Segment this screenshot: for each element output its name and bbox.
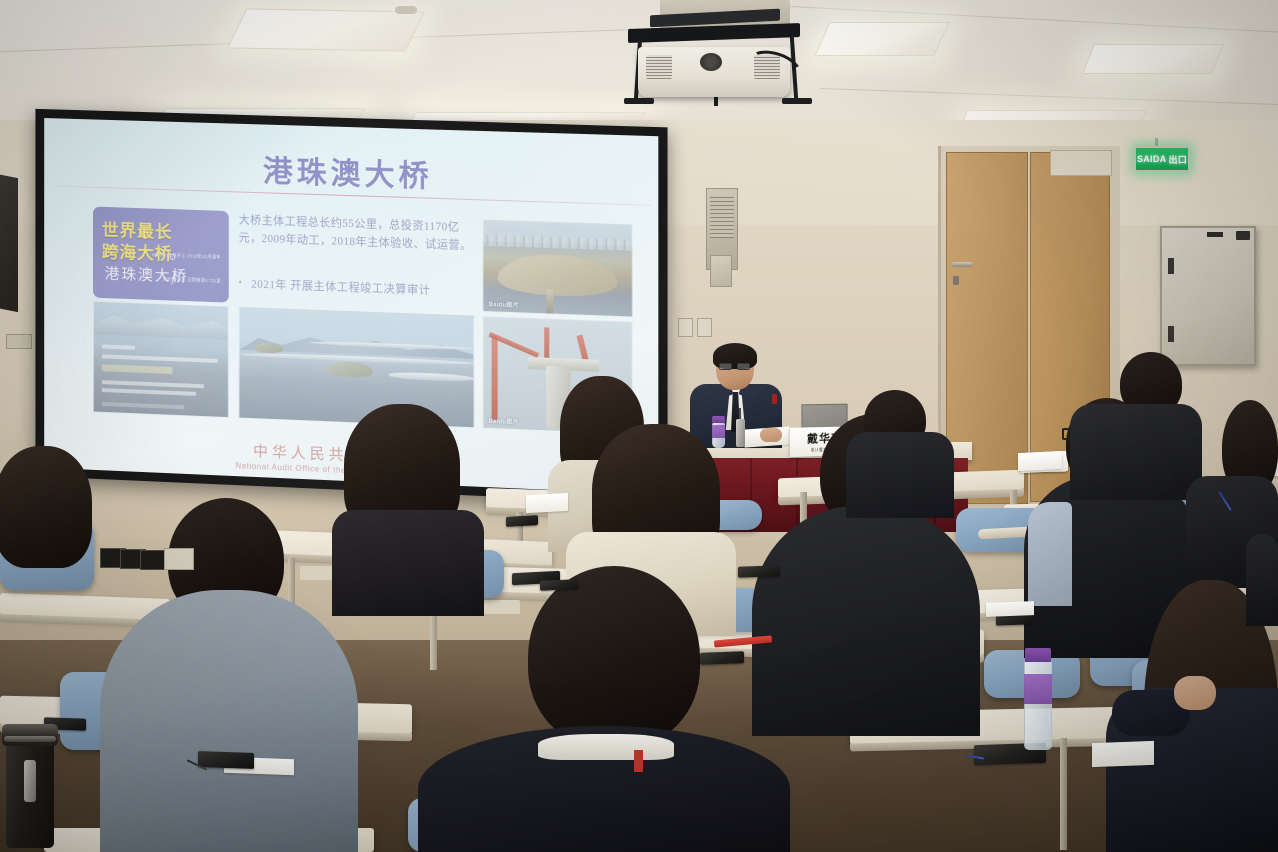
thermos-lid[interactable] (2, 724, 58, 746)
slide-bullet-text: 2021年 开展主体工程竣工决算审计 (251, 279, 430, 297)
thermos-clip (24, 760, 36, 802)
slide-body-paragraph: 大桥主体工程总长约55公里，总投资1170亿元，2009年动工，2018年主体验… (239, 211, 475, 255)
bottle-cap[interactable] (1025, 648, 1051, 662)
slide-title: 港珠澳大桥 (44, 140, 658, 203)
slide-photo-traffic-statistics (93, 302, 229, 418)
room-photo: SAIDA 出口 港珠澳大桥 世界最长 跨海大桥 港珠澳大桥 2009年12月开… (0, 0, 1278, 852)
bullet-marker: • (239, 277, 243, 287)
panel-hinge (1168, 326, 1174, 342)
attendee-torso (1246, 534, 1278, 626)
bottle-cap[interactable] (712, 416, 725, 423)
wall-speaker-grille (710, 196, 734, 238)
presenter-hand (760, 428, 782, 442)
ceiling-light-panel (814, 22, 949, 56)
light-switch-panel[interactable] (697, 318, 712, 337)
door-sign (1050, 150, 1112, 176)
exit-sign: SAIDA 出口 (1134, 146, 1190, 172)
attendee-torso (846, 432, 954, 518)
notepad[interactable] (1018, 451, 1062, 471)
door-lock[interactable] (953, 276, 959, 285)
wall-socket-plate[interactable] (164, 548, 194, 570)
attendee-torso (752, 506, 980, 736)
wall-socket[interactable] (6, 334, 32, 349)
bottle-label (712, 425, 725, 438)
attendee-hair (0, 446, 92, 568)
slide-bullet-row: •2021年 开展主体工程竣工决算审计 (239, 275, 489, 300)
door-handle[interactable] (952, 262, 972, 267)
ceiling-light-panel (227, 8, 425, 51)
thermostat-panel[interactable] (678, 318, 693, 337)
notepad[interactable] (526, 493, 568, 513)
thermos-ring (4, 736, 56, 742)
exit-sign-latin-label: SAIDA (1137, 154, 1167, 164)
photo-watermark: Baidu图片 (489, 416, 519, 426)
wall-control-box[interactable] (710, 255, 732, 287)
collar-stripe (634, 750, 643, 772)
ceiling-light-panel (1082, 44, 1224, 74)
attendee-sleeve (1028, 502, 1072, 606)
attendee-head (528, 566, 700, 748)
smoke-detector (395, 6, 417, 14)
exit-sign-chinese-label: 出口 (1168, 153, 1187, 166)
photo-watermark: Baidu图片 (489, 299, 519, 309)
desk-leg (1060, 738, 1067, 850)
infographic-line-2: 跨海大桥 (102, 238, 173, 265)
slide-photo-aerial-island: Baidu图片 (483, 219, 633, 317)
wall-socket[interactable] (140, 550, 166, 570)
smartphone[interactable] (506, 515, 538, 527)
panel-label (1207, 232, 1223, 237)
smartphone[interactable] (540, 579, 578, 590)
bottle-label (1024, 674, 1052, 704)
presenter-glasses (737, 363, 750, 370)
panel-hinge (1168, 258, 1174, 274)
attendee-collar (538, 734, 674, 760)
smartphone[interactable] (198, 751, 254, 769)
wall-speaker-left (0, 174, 18, 312)
projector-mount-foot (782, 98, 812, 104)
slide-photo-bridge-panorama (239, 307, 475, 428)
projector-lens (700, 53, 722, 71)
attendee-hand (1174, 676, 1216, 710)
attendee-torso (332, 510, 484, 616)
presenter-microphone[interactable] (736, 419, 745, 447)
panel-switch[interactable] (1236, 231, 1250, 240)
presenter-glasses (719, 363, 732, 370)
attendee-torso (1070, 404, 1202, 500)
notepad[interactable] (1092, 741, 1154, 767)
electrical-panel-cabinet[interactable] (1160, 226, 1256, 366)
notepad[interactable] (986, 601, 1034, 617)
projector-mount-foot (624, 98, 654, 104)
attendee-torso (100, 590, 358, 852)
slide-infographic-card: 世界最长 跨海大桥 港珠澳大桥 2009年12月开工 2018年10月通车 全长… (93, 207, 229, 303)
smartphone[interactable] (700, 651, 744, 665)
smartphone[interactable] (738, 565, 780, 577)
presenter-lapel-badge (772, 394, 777, 404)
